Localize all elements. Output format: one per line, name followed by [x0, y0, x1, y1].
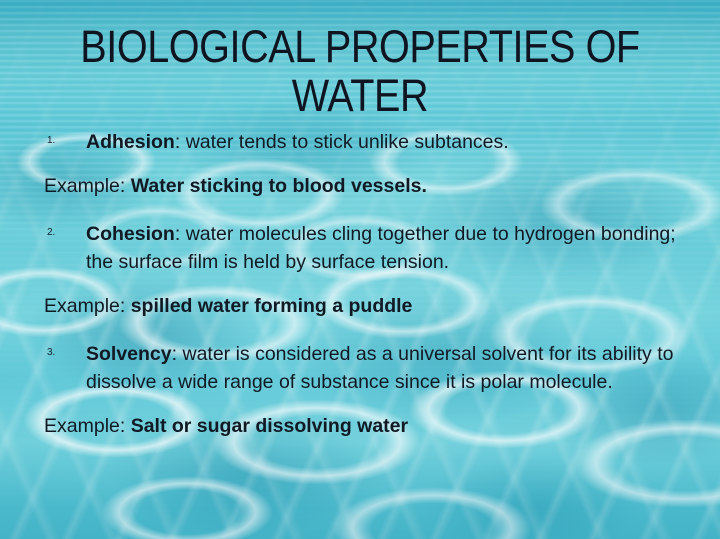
example-text: spilled water forming a puddle	[131, 295, 413, 317]
list-item: 1. Adhesion: water tends to stick unlike…	[44, 128, 692, 156]
list-marker: 3.	[47, 348, 55, 358]
spacer	[44, 402, 692, 412]
example-line: Example: Water sticking to blood vessels…	[44, 172, 692, 200]
term-label: Adhesion	[86, 131, 175, 153]
list-item: 2. Cohesion: water molecules cling toget…	[44, 220, 692, 276]
example-text: Salt or sugar dissolving water	[131, 415, 408, 437]
slide: BIOLOGICAL PROPERTIES OF WATER 1. Adhesi…	[0, 0, 720, 539]
slide-title: BIOLOGICAL PROPERTIES OF WATER	[43, 22, 677, 120]
term-separator: :	[175, 223, 186, 245]
example-label: Example:	[44, 415, 131, 437]
spacer	[44, 326, 692, 340]
spacer	[44, 206, 692, 220]
slide-content: BIOLOGICAL PROPERTIES OF WATER 1. Adhesi…	[0, 0, 720, 539]
term-separator: :	[175, 131, 186, 153]
term-label: Solvency	[86, 343, 172, 365]
list-marker: 2.	[47, 228, 55, 238]
example-text: Water sticking to blood vessels.	[131, 175, 427, 197]
term-label: Cohesion	[86, 223, 175, 245]
spacer	[44, 162, 692, 172]
list-item: 3. Solvency: water is considered as a un…	[44, 340, 692, 396]
term-separator: :	[172, 343, 183, 365]
spacer	[44, 282, 692, 292]
example-line: Example: Salt or sugar dissolving water	[44, 412, 692, 440]
term-definition: water tends to stick unlike subtances.	[186, 131, 509, 153]
example-label: Example:	[44, 295, 131, 317]
example-label: Example:	[44, 175, 131, 197]
slide-body: 1. Adhesion: water tends to stick unlike…	[44, 128, 692, 446]
list-marker: 1.	[47, 136, 55, 146]
example-line: Example: spilled water forming a puddle	[44, 292, 692, 320]
